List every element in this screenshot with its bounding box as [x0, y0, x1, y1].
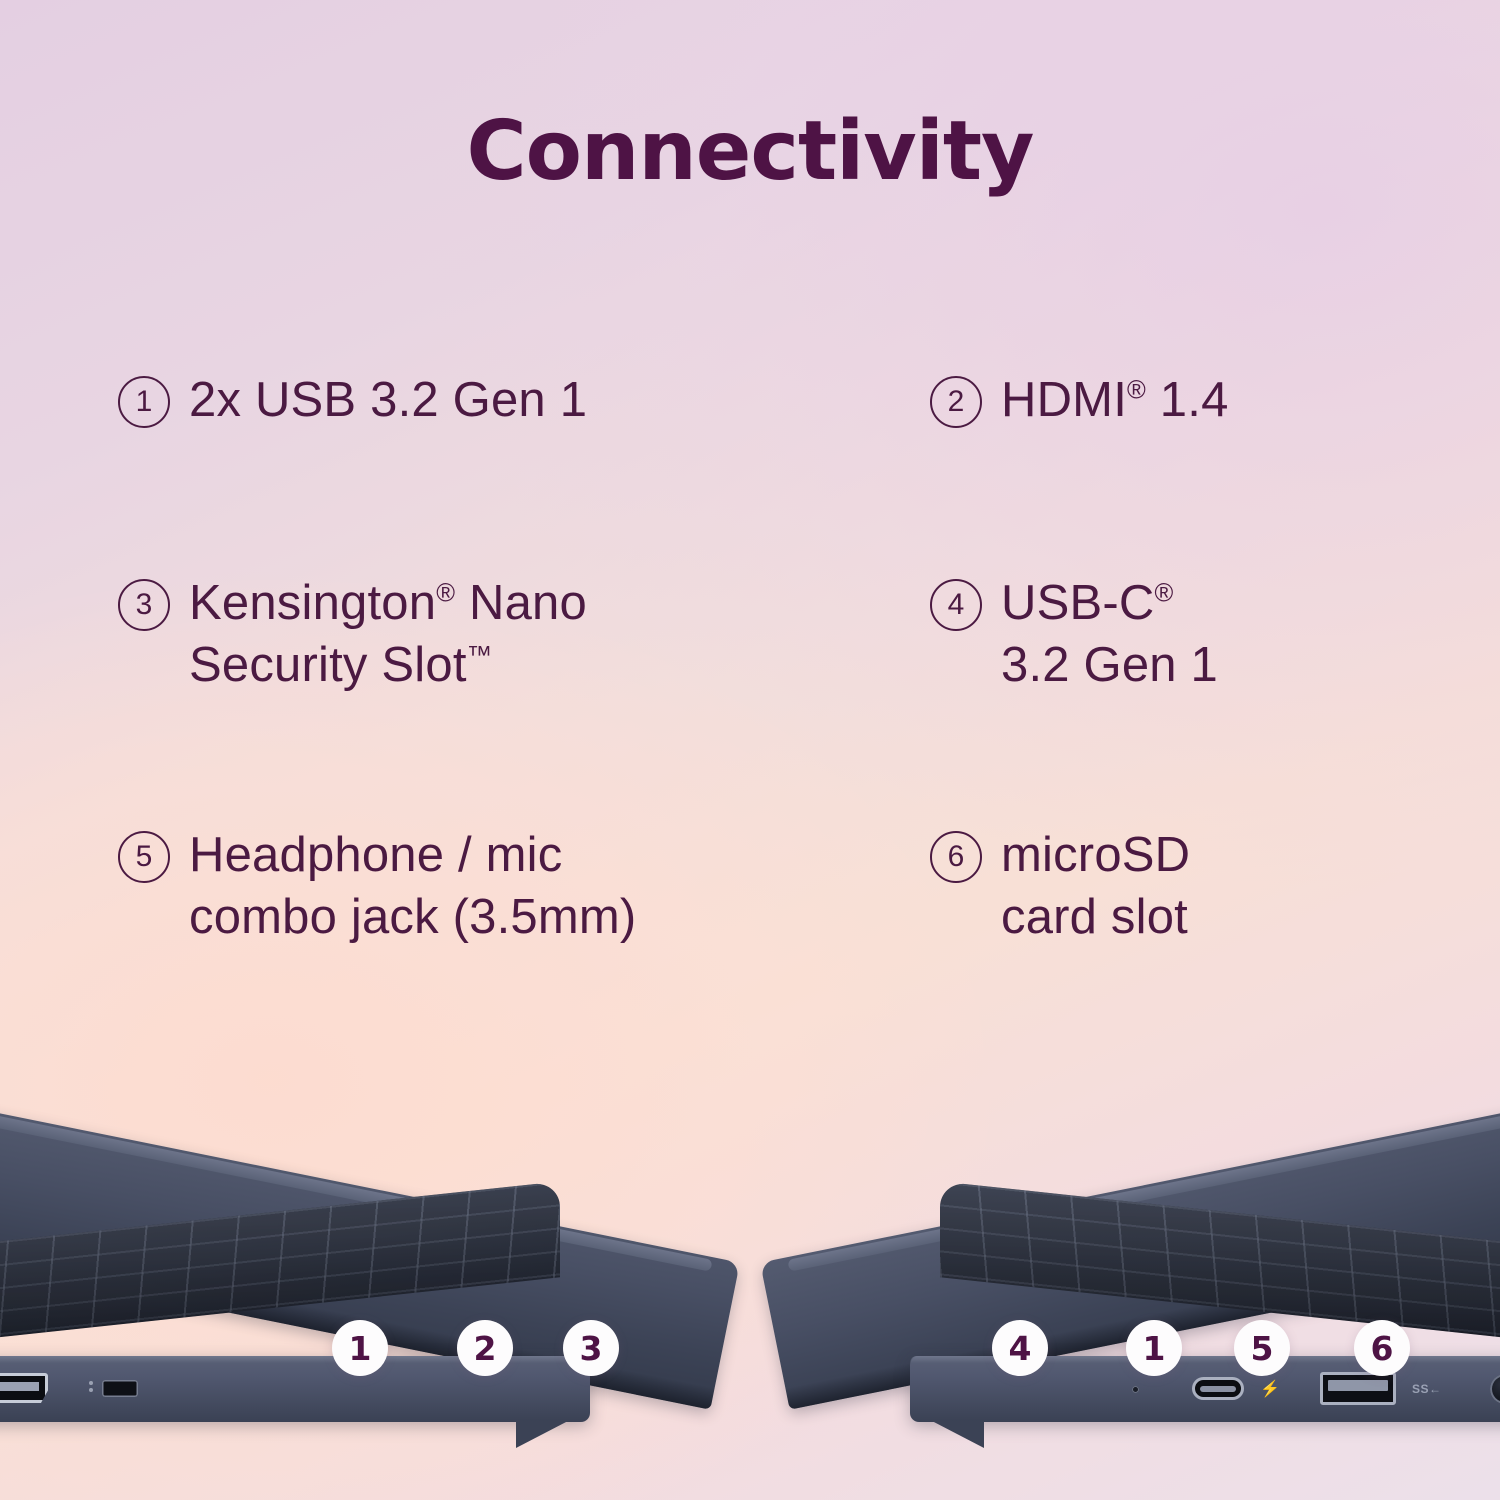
port-usb-c-right [1192, 1377, 1244, 1400]
callout-badge-3-left[interactable]: 3 [563, 1320, 619, 1376]
laptop-photo-stage: SS← HDMI ⚡ SS← [0, 1070, 1500, 1500]
reset-pinhole-icon [1132, 1386, 1139, 1393]
port-audio-jack-right [1490, 1374, 1500, 1404]
port-hdmi-left [0, 1373, 48, 1403]
spec-list: 1 2x USB 3.2 Gen 1 2 HDMI® 1.4 3 Kensing… [0, 370, 1500, 990]
spec-label-6: microSDcard slot [1001, 825, 1190, 948]
callout-badge-4-right[interactable]: 4 [992, 1320, 1048, 1376]
spec-label-5: Headphone / miccombo jack (3.5mm) [189, 825, 636, 948]
spec-item-headphone: 5 Headphone / miccombo jack (3.5mm) [118, 825, 636, 948]
port-kensington-lock-left [102, 1380, 138, 1397]
callout-badge-5-right[interactable]: 5 [1234, 1320, 1290, 1376]
spec-item-microsd: 6 microSDcard slot [930, 825, 1190, 948]
spec-label-3: Kensington® NanoSecurity Slot™ [189, 573, 587, 696]
callout-badge-2-left[interactable]: 2 [457, 1320, 513, 1376]
spec-number-5: 5 [118, 831, 170, 883]
lock-indicator-dots-icon [89, 1381, 93, 1396]
spec-number-6: 6 [930, 831, 982, 883]
spec-item-usb: 1 2x USB 3.2 Gen 1 [118, 370, 587, 432]
port-usb-a-right [1320, 1372, 1396, 1405]
laptop-right-foot [932, 1421, 984, 1448]
spec-item-hdmi: 2 HDMI® 1.4 [930, 370, 1229, 432]
laptop-left-foot [516, 1421, 568, 1448]
connectivity-infographic: Connectivity 1 2x USB 3.2 Gen 1 2 HDMI® … [0, 0, 1500, 1500]
spec-number-3: 3 [118, 579, 170, 631]
laptop-left-side-view: SS← HDMI [0, 1092, 750, 1422]
spec-number-2: 2 [930, 376, 982, 428]
spec-item-usbc: 4 USB-C®3.2 Gen 1 [930, 573, 1218, 696]
callout-badge-6-right[interactable]: 6 [1354, 1320, 1410, 1376]
page-title: Connectivity [0, 104, 1500, 199]
spec-label-2: HDMI® 1.4 [1001, 370, 1229, 432]
usb-superspeed-icon: SS← [1412, 1382, 1442, 1396]
callout-badge-1-left[interactable]: 1 [332, 1320, 388, 1376]
spec-label-4: USB-C®3.2 Gen 1 [1001, 573, 1218, 696]
spec-item-kensington: 3 Kensington® NanoSecurity Slot™ [118, 573, 587, 696]
charging-bolt-icon: ⚡ [1260, 1379, 1280, 1399]
spec-label-1: 2x USB 3.2 Gen 1 [189, 370, 587, 432]
spec-number-4: 4 [930, 579, 982, 631]
callout-badge-1-right[interactable]: 1 [1126, 1320, 1182, 1376]
spec-number-1: 1 [118, 376, 170, 428]
